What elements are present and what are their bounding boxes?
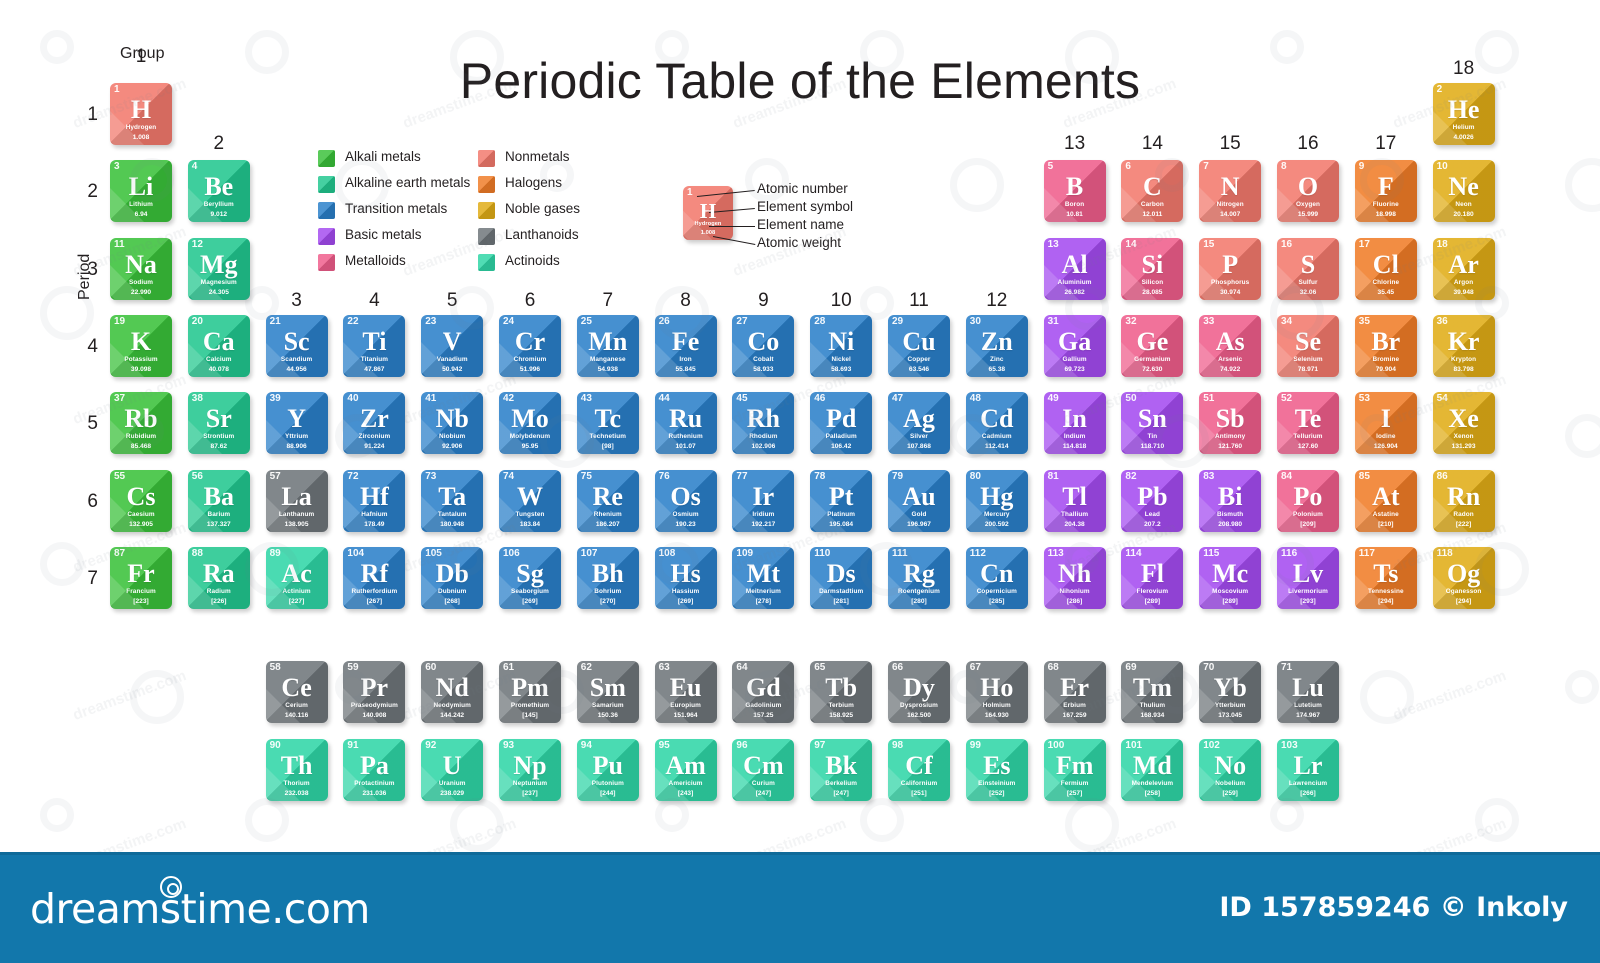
element-symbol: Pr: [343, 675, 405, 701]
element-cell-mg[interactable]: 12MgMagnesium24.305: [188, 238, 250, 300]
element-symbol: Hg: [966, 484, 1028, 510]
element-name: Roentgenium: [888, 588, 950, 596]
element-cell-lr[interactable]: 103LrLawrencium[266]: [1277, 739, 1339, 801]
banner-top-divider: [0, 852, 1600, 855]
element-name: Carbon: [1121, 201, 1183, 209]
element-cell-ts[interactable]: 117TsTennessine[294]: [1355, 547, 1417, 609]
atomic-weight: [252]: [966, 790, 1028, 798]
element-name: Uranium: [421, 780, 483, 788]
element-cell-ce[interactable]: 58CeCerium140.116: [266, 661, 328, 723]
element-cell-b[interactable]: 5BBoron10.81: [1044, 160, 1106, 222]
element-symbol: Rn: [1433, 484, 1495, 510]
atomic-number: 39: [270, 393, 281, 405]
element-cell-ag[interactable]: 47AgSilver107.868: [888, 392, 950, 454]
element-cell-na[interactable]: 11NaSodium22.990: [110, 238, 172, 300]
element-cell-s[interactable]: 16SSulfur32.06: [1277, 238, 1339, 300]
atomic-weight: 183.84: [499, 521, 561, 529]
element-symbol: Mc: [1199, 561, 1261, 587]
element-name: Barium: [188, 511, 250, 519]
element-symbol: Ti: [343, 329, 405, 355]
element-symbol: Sb: [1199, 406, 1261, 432]
group-number-14: 14: [1116, 133, 1188, 155]
element-cell-au[interactable]: 79AuGold196.967: [888, 470, 950, 532]
atomic-number: 35: [1359, 316, 1370, 328]
element-cell-er[interactable]: 68ErErbium167.259: [1044, 661, 1106, 723]
atomic-weight: 35.45: [1355, 289, 1417, 297]
element-cell-tl[interactable]: 81TlThallium204.38: [1044, 470, 1106, 532]
element-symbol: In: [1044, 406, 1106, 432]
element-cell-ne[interactable]: 10NeNeon20.180: [1433, 160, 1495, 222]
element-cell-o[interactable]: 8OOxygen15.999: [1277, 160, 1339, 222]
element-cell-tm[interactable]: 69TmThulium168.934: [1121, 661, 1183, 723]
atomic-number: 3: [114, 161, 120, 173]
element-cell-al[interactable]: 13AlAluminium26.982: [1044, 238, 1106, 300]
element-symbol: Na: [110, 252, 172, 278]
element-symbol: Lr: [1277, 753, 1339, 779]
element-name: Chlorine: [1355, 279, 1417, 287]
element-name: Iridium: [732, 511, 794, 519]
element-cell-gd[interactable]: 64GdGadolinium157.25: [732, 661, 794, 723]
atomic-weight: 118.710: [1121, 443, 1183, 451]
element-cell-pr[interactable]: 59PrPraseodymium140.908: [343, 661, 405, 723]
element-cell-ba[interactable]: 56BaBarium137.327: [188, 470, 250, 532]
atomic-weight: 140.116: [266, 712, 328, 720]
element-symbol: Ne: [1433, 174, 1495, 200]
element-cell-zn[interactable]: 30ZnZinc65.38: [966, 315, 1028, 377]
atomic-weight: 1.008: [110, 134, 172, 142]
atomic-weight: [278]: [732, 598, 794, 606]
element-cell-pa[interactable]: 91PaProtactinium231.036: [343, 739, 405, 801]
element-name: Calcium: [188, 356, 250, 364]
atomic-number: 56: [192, 471, 203, 483]
element-symbol: Cd: [966, 406, 1028, 432]
element-cell-f[interactable]: 9FFluorine18.998: [1355, 160, 1417, 222]
atomic-number: 51: [1203, 393, 1214, 405]
element-cell-sr[interactable]: 38SrStrontium87.62: [188, 392, 250, 454]
element-cell-pt[interactable]: 78PtPlatinum195.084: [810, 470, 872, 532]
atomic-number: 106: [503, 548, 520, 560]
element-cell-li[interactable]: 3LiLithium6.94: [110, 160, 172, 222]
element-cell-in[interactable]: 49InIndium114.818: [1044, 392, 1106, 454]
element-cell-nb[interactable]: 41NbNiobium92.906: [421, 392, 483, 454]
element-name: Dysprosium: [888, 702, 950, 710]
atomic-weight: [244]: [577, 790, 639, 798]
element-cell-si[interactable]: 14SiSilicon28.085: [1121, 238, 1183, 300]
legend-swatch: [318, 176, 335, 193]
element-cell-sc[interactable]: 21ScScandium44.956: [266, 315, 328, 377]
atomic-number: 77: [736, 471, 747, 483]
element-cell-i[interactable]: 53IIodine126.904: [1355, 392, 1417, 454]
element-name: Fermium: [1044, 780, 1106, 788]
element-cell-c[interactable]: 6CCarbon12.011: [1121, 160, 1183, 222]
element-cell-co[interactable]: 27CoCobalt58.933: [732, 315, 794, 377]
atomic-weight: [269]: [499, 598, 561, 606]
atomic-number: 79: [892, 471, 903, 483]
image-id-label: ID 157859246 © Inkoly: [1219, 892, 1568, 923]
element-cell-fm[interactable]: 100FmFermium[257]: [1044, 739, 1106, 801]
atomic-weight: [210]: [1355, 521, 1417, 529]
element-symbol: Cu: [888, 329, 950, 355]
period-number-1: 1: [76, 104, 98, 126]
element-cell-cn[interactable]: 112CnCopernicium[285]: [966, 547, 1028, 609]
element-cell-nd[interactable]: 60NdNeodymium144.242: [421, 661, 483, 723]
element-symbol: Y: [266, 406, 328, 432]
element-cell-p[interactable]: 15PPhosphorus30.974: [1199, 238, 1261, 300]
element-cell-es[interactable]: 99EsEinsteinium[252]: [966, 739, 1028, 801]
element-cell-sn[interactable]: 50SnTin118.710: [1121, 392, 1183, 454]
element-name: Americium: [655, 780, 717, 788]
element-symbol: Fe: [655, 329, 717, 355]
atomic-weight: 140.908: [343, 712, 405, 720]
legend-label: Transition metals: [345, 201, 447, 216]
atomic-number: 55: [114, 471, 125, 483]
atomic-number: 99: [970, 740, 981, 752]
element-symbol: B: [1044, 174, 1106, 200]
element-cell-no[interactable]: 102NoNobelium[259]: [1199, 739, 1261, 801]
element-cell-ga[interactable]: 31GaGallium69.723: [1044, 315, 1106, 377]
atomic-weight: [270]: [577, 598, 639, 606]
element-cell-h[interactable]: 1HHydrogen1.008: [110, 83, 172, 145]
element-symbol: Md: [1121, 753, 1183, 779]
element-cell-cu[interactable]: 29CuCopper63.546: [888, 315, 950, 377]
element-symbol: N: [1199, 174, 1261, 200]
legend-swatch: [478, 176, 495, 193]
atomic-weight: 58.693: [810, 366, 872, 374]
period-number-7: 7: [76, 568, 98, 590]
element-cell-sm[interactable]: 62SmSamarium150.36: [577, 661, 639, 723]
element-cell-be[interactable]: 4BeBeryllium9.012: [188, 160, 250, 222]
element-symbol: Np: [499, 753, 561, 779]
atomic-weight: 208.980: [1199, 521, 1261, 529]
element-symbol: Be: [188, 174, 250, 200]
element-cell-as[interactable]: 33AsArsenic74.922: [1199, 315, 1261, 377]
element-cell-og[interactable]: 118OgOganesson[294]: [1433, 547, 1495, 609]
atomic-weight: 79.904: [1355, 366, 1417, 374]
element-symbol: Hs: [655, 561, 717, 587]
group-number-11: 11: [883, 290, 955, 312]
element-symbol: Mg: [188, 252, 250, 278]
atomic-weight: 106.42: [810, 443, 872, 451]
element-symbol: Ge: [1121, 329, 1183, 355]
element-cell-br[interactable]: 35BrBromine79.904: [1355, 315, 1417, 377]
atomic-number: 41: [425, 393, 436, 405]
element-name: Radon: [1433, 511, 1495, 519]
legend-swatch: [478, 202, 495, 219]
element-cell-tc[interactable]: 43TcTechnetium[98]: [577, 392, 639, 454]
atomic-number: 114: [1125, 548, 1141, 560]
element-cell-mt[interactable]: 109MtMeitnerium[278]: [732, 547, 794, 609]
element-name: Tellurium: [1277, 433, 1339, 441]
element-name: Bohrium: [577, 588, 639, 596]
element-cell-hg[interactable]: 80HgMercury200.592: [966, 470, 1028, 532]
atomic-weight: 69.723: [1044, 366, 1106, 374]
atomic-weight: 40.078: [188, 366, 250, 374]
element-cell-ta[interactable]: 73TaTantalum180.948: [421, 470, 483, 532]
atomic-number: 33: [1203, 316, 1214, 328]
element-cell-cr[interactable]: 24CrChromium51.996: [499, 315, 561, 377]
element-cell-am[interactable]: 95AmAmericium[243]: [655, 739, 717, 801]
atomic-weight: 107.868: [888, 443, 950, 451]
element-cell-ho[interactable]: 67HoHolmium164.930: [966, 661, 1028, 723]
element-cell-ti[interactable]: 22TiTitanium47.867: [343, 315, 405, 377]
atomic-number: 84: [1281, 471, 1292, 483]
atomic-weight: 58.933: [732, 366, 794, 374]
element-name: Hafnium: [343, 511, 405, 519]
atomic-weight: 151.964: [655, 712, 717, 720]
element-cell-rb[interactable]: 37RbRubidium85.468: [110, 392, 172, 454]
element-name: Dubnium: [421, 588, 483, 596]
element-cell-ge[interactable]: 32GeGermanium72.630: [1121, 315, 1183, 377]
element-symbol: Cl: [1355, 252, 1417, 278]
atomic-number: 34: [1281, 316, 1292, 328]
element-cell-cd[interactable]: 48CdCadmium112.414: [966, 392, 1028, 454]
element-cell-cm[interactable]: 96CmCurium[247]: [732, 739, 794, 801]
atomic-weight: [294]: [1433, 598, 1495, 606]
atomic-weight: 6.94: [110, 211, 172, 219]
atomic-weight: 50.942: [421, 366, 483, 374]
element-cell-rh[interactable]: 45RhRhodium102.906: [732, 392, 794, 454]
element-cell-th[interactable]: 90ThThorium232.038: [266, 739, 328, 801]
element-cell-bk[interactable]: 97BkBerkelium[247]: [810, 739, 872, 801]
element-cell-pm[interactable]: 61PmPromethium[145]: [499, 661, 561, 723]
atomic-weight: 83.798: [1433, 366, 1495, 374]
atomic-number: 115: [1203, 548, 1219, 560]
element-cell-po[interactable]: 84PoPolonium[209]: [1277, 470, 1339, 532]
atomic-number: 53: [1359, 393, 1370, 405]
element-symbol: Se: [1277, 329, 1339, 355]
atomic-weight: [267]: [343, 598, 405, 606]
element-symbol: W: [499, 484, 561, 510]
element-name: Cadmium: [966, 433, 1028, 441]
atomic-number: 111: [892, 548, 908, 560]
element-cell-ra[interactable]: 88RaRadium[226]: [188, 547, 250, 609]
element-cell-hf[interactable]: 72HfHafnium178.49: [343, 470, 405, 532]
element-cell-db[interactable]: 105DbDubnium[268]: [421, 547, 483, 609]
element-cell-cl[interactable]: 17ClChlorine35.45: [1355, 238, 1417, 300]
element-name: Flerovium: [1121, 588, 1183, 596]
element-cell-ar[interactable]: 18ArArgon39.948: [1433, 238, 1495, 300]
element-cell-pu[interactable]: 94PuPlutonium[244]: [577, 739, 639, 801]
element-cell-k[interactable]: 19KPotassium39.098: [110, 315, 172, 377]
legend-label: Halogens: [505, 175, 562, 190]
element-symbol: Ts: [1355, 561, 1417, 587]
element-name: Rutherfordium: [343, 588, 405, 596]
atomic-weight: 55.845: [655, 366, 717, 374]
element-cell-ni[interactable]: 28NiNickel58.693: [810, 315, 872, 377]
element-cell-rn[interactable]: 86RnRadon[222]: [1433, 470, 1495, 532]
element-symbol: F: [1355, 174, 1417, 200]
atomic-number: 15: [1203, 239, 1214, 251]
group-number-1: 1: [105, 46, 177, 68]
element-name: Scandium: [266, 356, 328, 364]
atomic-number: 57: [270, 471, 281, 483]
atomic-weight: 32.06: [1277, 289, 1339, 297]
element-name: Nitrogen: [1199, 201, 1261, 209]
atomic-number: 91: [347, 740, 358, 752]
atomic-number: 118: [1437, 548, 1453, 560]
element-cell-pd[interactable]: 46PdPalladium106.42: [810, 392, 872, 454]
element-cell-mn[interactable]: 25MnManganese54.938: [577, 315, 639, 377]
element-cell-lu[interactable]: 71LuLutetium174.967: [1277, 661, 1339, 723]
element-symbol: Br: [1355, 329, 1417, 355]
element-symbol: V: [421, 329, 483, 355]
element-cell-v[interactable]: 23VVanadium50.942: [421, 315, 483, 377]
atomic-number: 21: [270, 316, 281, 328]
element-cell-re[interactable]: 75ReRhenium186.207: [577, 470, 639, 532]
legend-swatch: [478, 228, 495, 245]
element-symbol: Po: [1277, 484, 1339, 510]
group-number-7: 7: [572, 290, 644, 312]
atomic-number: 81: [1048, 471, 1059, 483]
element-cell-hs[interactable]: 108HsHassium[269]: [655, 547, 717, 609]
element-symbol: Fl: [1121, 561, 1183, 587]
element-symbol: Ta: [421, 484, 483, 510]
atomic-number: 73: [425, 471, 436, 483]
element-name: Platinum: [810, 511, 872, 519]
atomic-number: 98: [892, 740, 903, 752]
element-cell-te[interactable]: 52TeTellurium127.60: [1277, 392, 1339, 454]
atomic-weight: 65.38: [966, 366, 1028, 374]
legend-label: Lanthanoids: [505, 227, 579, 242]
atomic-number: 60: [425, 662, 436, 674]
element-cell-cs[interactable]: 55CsCaesium132.905: [110, 470, 172, 532]
element-symbol: Al: [1044, 252, 1106, 278]
element-cell-yb[interactable]: 70YbYtterbium173.045: [1199, 661, 1261, 723]
atomic-weight: 92.906: [421, 443, 483, 451]
atomic-weight: [289]: [1121, 598, 1183, 606]
element-name: Lutetium: [1277, 702, 1339, 710]
element-cell-se[interactable]: 34SeSelenium78.971: [1277, 315, 1339, 377]
atomic-weight: 20.180: [1433, 211, 1495, 219]
element-symbol: I: [1355, 406, 1417, 432]
element-cell-rg[interactable]: 111RgRoentgenium[280]: [888, 547, 950, 609]
atomic-weight: 51.996: [499, 366, 561, 374]
element-cell-he[interactable]: 2HeHelium4.0026: [1433, 83, 1495, 145]
element-cell-zr[interactable]: 40ZrZirconium91.224: [343, 392, 405, 454]
element-symbol: Ds: [810, 561, 872, 587]
element-cell-n[interactable]: 7NNitrogen14.007: [1199, 160, 1261, 222]
element-name: Germanium: [1121, 356, 1183, 364]
element-cell-dy[interactable]: 66DyDysprosium162.500: [888, 661, 950, 723]
element-symbol: Ba: [188, 484, 250, 510]
element-symbol: Ca: [188, 329, 250, 355]
atomic-number: 28: [814, 316, 825, 328]
element-name: Terbium: [810, 702, 872, 710]
element-cell-np[interactable]: 93NpNeptunium[237]: [499, 739, 561, 801]
element-cell-nh[interactable]: 113NhNihonium[286]: [1044, 547, 1106, 609]
element-cell-eu[interactable]: 63EuEuropium151.964: [655, 661, 717, 723]
element-symbol: Og: [1433, 561, 1495, 587]
atomic-number: 97: [814, 740, 825, 752]
element-cell-lv[interactable]: 116LvLivermorium[293]: [1277, 547, 1339, 609]
element-name: Indium: [1044, 433, 1106, 441]
element-name: Caesium: [110, 511, 172, 519]
element-cell-ru[interactable]: 44RuRuthenium101.07: [655, 392, 717, 454]
element-symbol: Zn: [966, 329, 1028, 355]
atomic-weight: 195.084: [810, 521, 872, 529]
atomic-number: 17: [1359, 239, 1370, 251]
element-cell-y[interactable]: 39YYttrium88.906: [266, 392, 328, 454]
element-cell-ir[interactable]: 77IrIridium192.217: [732, 470, 794, 532]
element-cell-fe[interactable]: 26FeIron55.845: [655, 315, 717, 377]
element-cell-pb[interactable]: 82PbLead207.2: [1121, 470, 1183, 532]
element-cell-mo[interactable]: 42MoMolybdenum95.95: [499, 392, 561, 454]
element-name: Berkelium: [810, 780, 872, 788]
element-name: Thallium: [1044, 511, 1106, 519]
element-cell-tb[interactable]: 65TbTerbium158.925: [810, 661, 872, 723]
atomic-weight: 95.95: [499, 443, 561, 451]
element-symbol: Pt: [810, 484, 872, 510]
element-symbol: Ho: [966, 675, 1028, 701]
element-symbol: Ac: [266, 561, 328, 587]
element-cell-bh[interactable]: 107BhBohrium[270]: [577, 547, 639, 609]
element-name: Osmium: [655, 511, 717, 519]
element-cell-at[interactable]: 85AtAstatine[210]: [1355, 470, 1417, 532]
atomic-weight: 168.934: [1121, 712, 1183, 720]
element-name: Iron: [655, 356, 717, 364]
element-name: Curium: [732, 780, 794, 788]
element-name: Yttrium: [266, 433, 328, 441]
atomic-number: 54: [1437, 393, 1448, 405]
element-cell-sg[interactable]: 106SgSeaborgium[269]: [499, 547, 561, 609]
atomic-weight: [226]: [188, 598, 250, 606]
element-cell-w[interactable]: 74WTungsten183.84: [499, 470, 561, 532]
atomic-weight: 78.971: [1277, 366, 1339, 374]
element-name: Niobium: [421, 433, 483, 441]
atomic-number: 89: [270, 548, 281, 560]
element-symbol: Sg: [499, 561, 561, 587]
element-cell-la[interactable]: 57LaLanthanum138.905: [266, 470, 328, 532]
element-symbol: Bh: [577, 561, 639, 587]
element-cell-kr[interactable]: 36KrKrypton83.798: [1433, 315, 1495, 377]
element-symbol: Cm: [732, 753, 794, 779]
element-symbol: H: [110, 97, 172, 123]
atomic-number: 110: [814, 548, 830, 560]
element-cell-sb[interactable]: 51SbAntimony121.760: [1199, 392, 1261, 454]
element-name: Neodymium: [421, 702, 483, 710]
element-symbol: Er: [1044, 675, 1106, 701]
element-symbol: Re: [577, 484, 639, 510]
element-cell-mc[interactable]: 115McMoscovium[289]: [1199, 547, 1261, 609]
element-cell-xe[interactable]: 54XeXenon131.293: [1433, 392, 1495, 454]
atomic-weight: [293]: [1277, 598, 1339, 606]
element-cell-ca[interactable]: 20CaCalcium40.078: [188, 315, 250, 377]
atomic-number: 83: [1203, 471, 1214, 483]
atomic-number: 113: [1048, 548, 1064, 560]
dreamstime-logo[interactable]: dreamstime.com: [30, 885, 370, 933]
element-cell-fl[interactable]: 114FlFlerovium[289]: [1121, 547, 1183, 609]
period-number-3: 3: [76, 259, 98, 281]
element-symbol: Eu: [655, 675, 717, 701]
element-name: Xenon: [1433, 433, 1495, 441]
atomic-number: 52: [1281, 393, 1292, 405]
atomic-number: 72: [347, 471, 358, 483]
element-cell-os[interactable]: 76OsOsmium190.23: [655, 470, 717, 532]
element-symbol: Lu: [1277, 675, 1339, 701]
element-cell-u[interactable]: 92UUranium238.029: [421, 739, 483, 801]
element-cell-bi[interactable]: 83BiBismuth208.980: [1199, 470, 1261, 532]
element-name: Rhenium: [577, 511, 639, 519]
legend-label: Noble gases: [505, 201, 580, 216]
element-name: Zinc: [966, 356, 1028, 364]
element-cell-cf[interactable]: 98CfCalifornium[251]: [888, 739, 950, 801]
element-cell-md[interactable]: 101MdMendelevium[258]: [1121, 739, 1183, 801]
element-cell-ds[interactable]: 110DsDarmstadtium[281]: [810, 547, 872, 609]
element-cell-ac[interactable]: 89AcActinium[227]: [266, 547, 328, 609]
element-cell-fr[interactable]: 87FrFrancium[223]: [110, 547, 172, 609]
atomic-number: 16: [1281, 239, 1292, 251]
element-cell-rf[interactable]: 104RfRutherfordium[267]: [343, 547, 405, 609]
